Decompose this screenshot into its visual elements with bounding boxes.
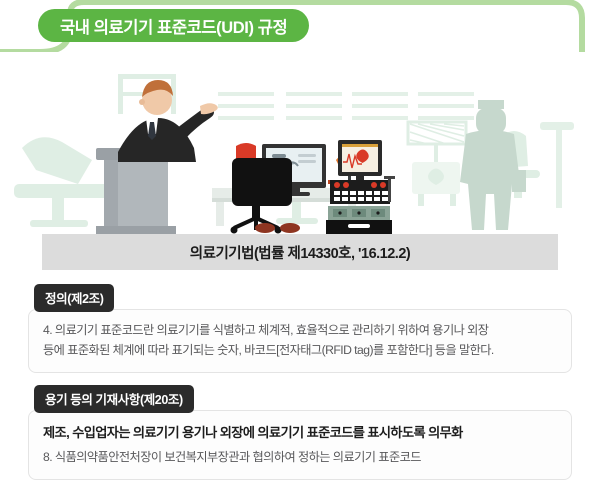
sections-container: 정의(제2조) 4. 의료기기 표준코드란 의료기기를 식별하고 체계적, 효율… bbox=[0, 270, 600, 480]
medical-monitor-cart bbox=[326, 140, 395, 234]
page-title: 국내 의료기기 표준코드(UDI) 규정 bbox=[38, 9, 309, 42]
section-definition-line-1: 4. 의료기기 표준코드란 의료기기를 식별하고 체계적, 효율적으로 관리하기… bbox=[43, 321, 557, 341]
page-title-label: 국내 의료기기 표준코드(UDI) 규정 bbox=[60, 14, 287, 38]
section-tag-labeling-label: 용기 등의 기재사항(제20조) bbox=[45, 393, 183, 407]
section-body-definition: 4. 의료기기 표준코드란 의료기기를 식별하고 체계적, 효율적으로 관리하기… bbox=[28, 309, 572, 373]
law-title-bar: 의료기기법(법률 제14330호, '16.12.2) bbox=[42, 234, 558, 270]
law-title-text: 의료기기법(법률 제14330호, '16.12.2) bbox=[190, 242, 410, 263]
header: 국내 의료기기 표준코드(UDI) 규정 bbox=[0, 0, 600, 52]
section-labeling: 용기 등의 기재사항(제20조) 제조, 수입업자는 의료기기 용기나 외장에 … bbox=[28, 385, 572, 480]
section-body-labeling: 제조, 수입업자는 의료기기 용기나 외장에 의료기기 표준코드를 표시하도록 … bbox=[28, 410, 572, 480]
section-labeling-line-2: 8. 식품의약품안전처장이 보건복지부장관과 협의하여 정하는 의료기기 표준코… bbox=[43, 448, 557, 468]
section-definition: 정의(제2조) 4. 의료기기 표준코드란 의료기기를 식별하고 체계적, 효율… bbox=[28, 284, 572, 373]
section-labeling-line-1: 제조, 수입업자는 의료기기 용기나 외장에 의료기기 표준코드를 표시하도록 … bbox=[43, 422, 557, 443]
podium-speaker bbox=[96, 80, 218, 234]
scene-svg bbox=[0, 52, 600, 234]
section-tag-labeling: 용기 등의 기재사항(제20조) bbox=[34, 385, 194, 413]
section-tag-definition-label: 정의(제2조) bbox=[45, 292, 103, 306]
illustration-scene bbox=[0, 52, 600, 234]
section-definition-line-2: 등에 표준화된 체계에 따라 표기되는 숫자, 바코드[전자태그(RFID ta… bbox=[43, 341, 557, 361]
section-tag-definition: 정의(제2조) bbox=[34, 284, 114, 312]
